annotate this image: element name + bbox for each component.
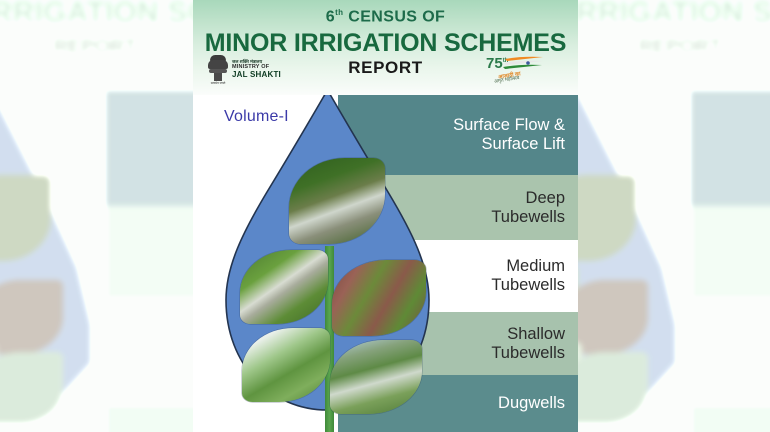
census-superscript: th (335, 8, 343, 17)
ministry-name-line: JAL SHAKTI (232, 71, 281, 80)
band-label-line2: Tubewells (491, 276, 565, 294)
volume-label: Volume-I (224, 108, 289, 126)
azadi-ka-amrit-mahotsav-logo: 75th आज़ादी का अमृत महोत्सव (486, 54, 548, 88)
screenshot-root: 6th CENSUS OF MINOR IRRIGATION SCHEMES R… (0, 0, 770, 432)
ministry-text-block: जल शक्ति मंत्रालय MINISTRY OF JAL SHAKTI (232, 60, 281, 79)
band-label-line1: Dugwells (498, 394, 565, 412)
band-label: Shallow Tubewells (491, 325, 565, 363)
band-label-line2: Tubewells (491, 208, 565, 226)
ministry-of-jal-shakti-logo: सत्यमेव जयते जल शक्ति मंत्रालय MINISTRY … (207, 55, 281, 85)
report-cover-poster: Surface Flow & Surface Lift Deep Tubewel… (193, 0, 578, 432)
band-label: Surface Flow & Surface Lift (453, 116, 565, 154)
band-label: Medium Tubewells (491, 257, 565, 295)
band-label: Dugwells (498, 394, 565, 413)
background-bands-right (690, 90, 770, 432)
census-of-label: CENSUS OF (348, 8, 445, 25)
water-drop-graphic (210, 88, 445, 432)
azadi-number-value: 75 (486, 55, 503, 72)
state-emblem-icon: सत्यमेव जयते (207, 55, 229, 85)
band-label-line2: Surface Lift (482, 135, 565, 153)
band-label-line1: Shallow (507, 325, 565, 343)
census-number: 6 (326, 8, 335, 25)
band-label-line1: Surface Flow & (453, 116, 565, 134)
census-number-line: 6th CENSUS OF (193, 8, 578, 26)
band-label: Deep Tubewells (491, 189, 565, 227)
band-label-line1: Medium (506, 257, 565, 275)
band-label-line2: Tubewells (491, 344, 565, 362)
tricolour-wings-icon (503, 56, 545, 71)
emblem-motto: सत्यमेव जयते (207, 81, 229, 85)
band-label-line1: Deep (526, 189, 565, 207)
